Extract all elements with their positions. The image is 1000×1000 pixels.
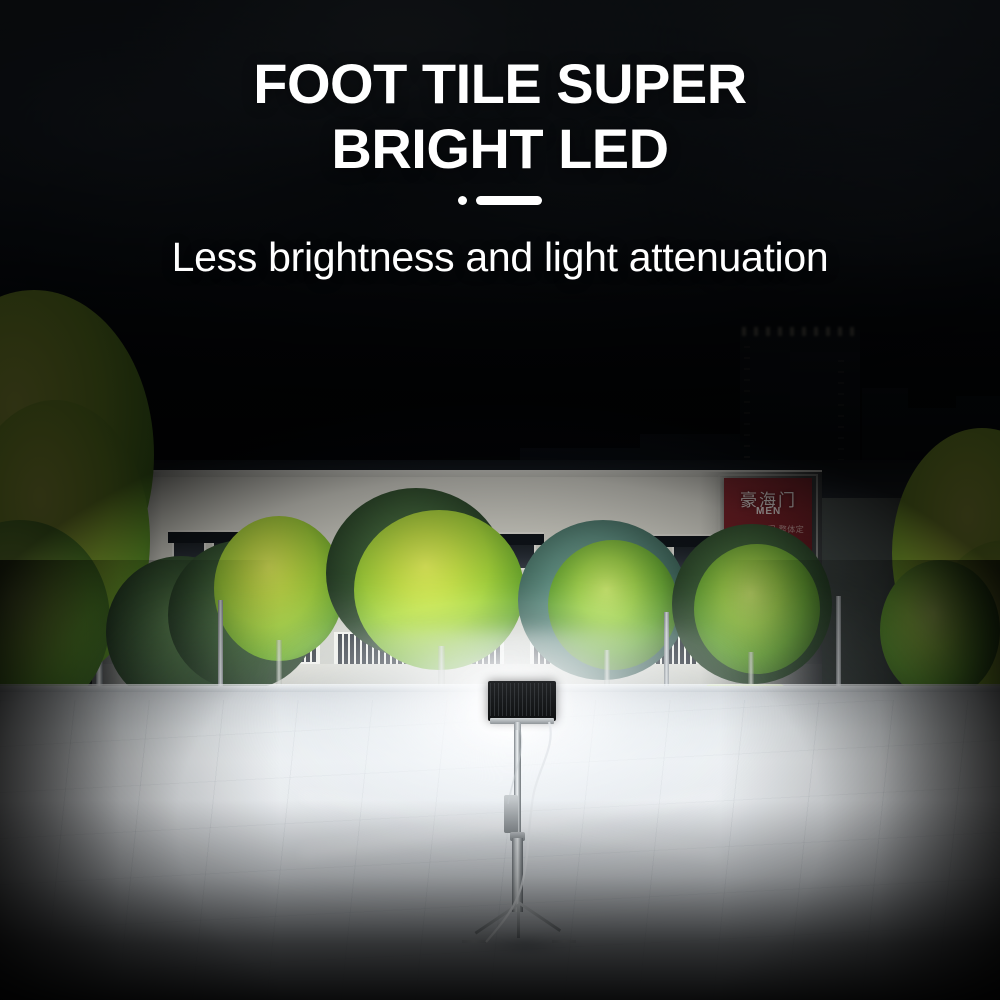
- divider-dot-icon: [458, 196, 467, 205]
- tripod-ballast-box: [504, 795, 518, 833]
- led-floodlight-panel: [488, 681, 556, 721]
- tripod-shadow: [470, 930, 580, 960]
- product-poster: 豪海门 MEN 品牌木门 整体定制: [0, 0, 1000, 1000]
- subtitle: Less brightness and light attenuation: [0, 234, 1000, 281]
- headline-line-1: FOOT TILE SUPER: [253, 52, 746, 115]
- divider: [0, 196, 1000, 205]
- divider-bar-icon: [476, 196, 542, 205]
- headline-line-2: BRIGHT LED: [0, 117, 1000, 182]
- page-title: FOOT TILE SUPER BRIGHT LED: [0, 52, 1000, 182]
- rooftop-lights: [742, 327, 860, 336]
- tripod-lower-mast: [512, 838, 523, 912]
- floodlight-bracket: [490, 718, 554, 724]
- billboard-latin-text: MEN: [756, 506, 816, 517]
